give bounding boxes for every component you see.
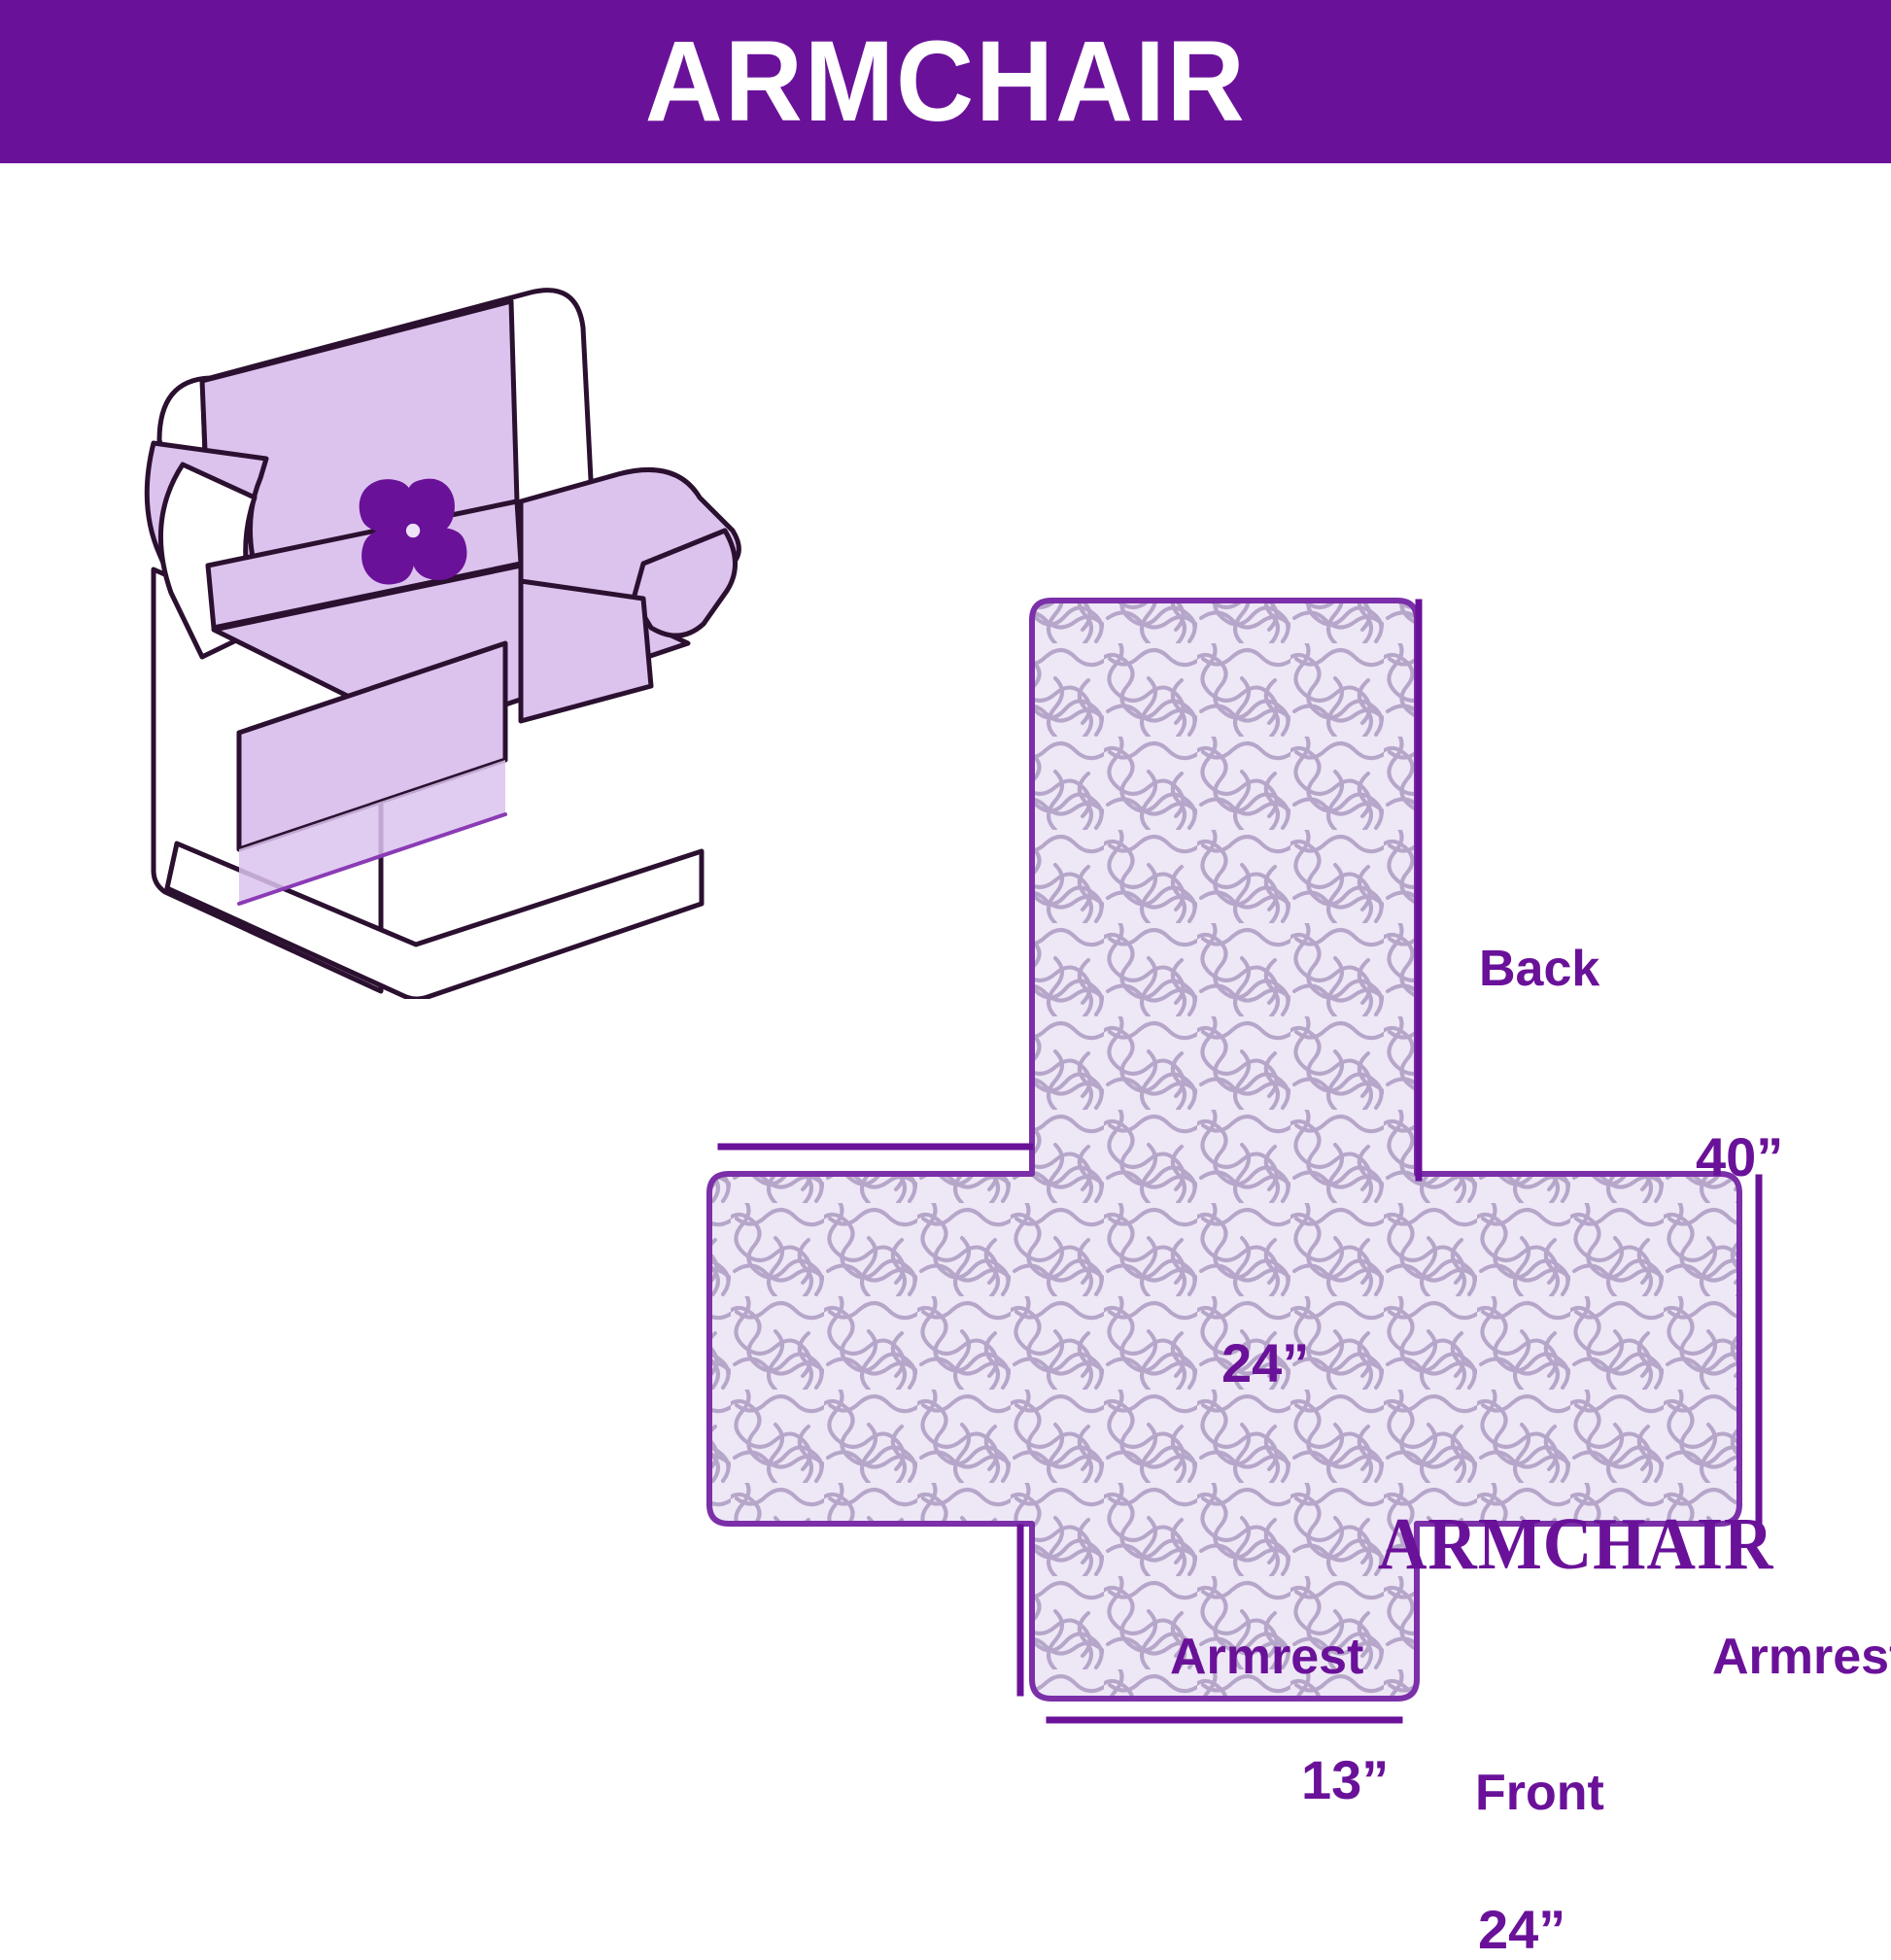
dimension-label-front-width: 24” [1478, 1903, 1565, 1957]
cover-dimension-diagram: Back ARMCHAIR Armrest Armrest Front 40” … [544, 457, 1891, 1817]
header-banner: ARMCHAIR [0, 0, 1891, 163]
panel-label-back: Back [1479, 944, 1599, 994]
panel-label-center: ARMCHAIR [1378, 1507, 1773, 1581]
panel-label-armrest-right: Armrest [1712, 1632, 1891, 1682]
panel-label-armrest-left: Armrest [1170, 1632, 1363, 1682]
dimension-label-back-height: 40” [1696, 1130, 1783, 1185]
panel-label-front: Front [1475, 1768, 1604, 1818]
dimension-label-front-height: 13” [1301, 1753, 1389, 1807]
dimension-label-back-width: 24” [1221, 1336, 1309, 1391]
page-title: ARMCHAIR [645, 24, 1247, 139]
